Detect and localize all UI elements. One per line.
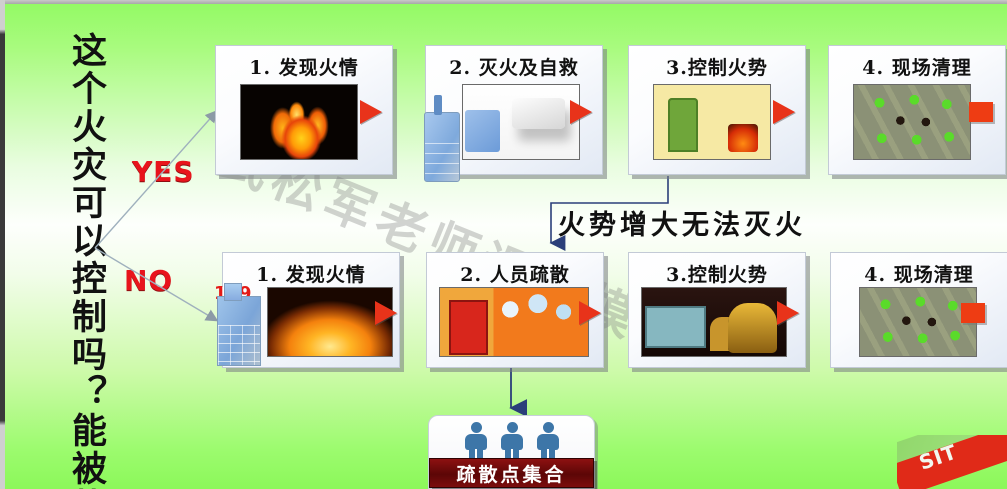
- card-title: 4. 现场清理: [829, 53, 1005, 80]
- stop-square-icon: [961, 303, 985, 323]
- card-no-3[interactable]: 3.控制火势: [628, 252, 806, 368]
- next-arrow-icon: [360, 100, 382, 124]
- fire-image: [241, 85, 357, 159]
- card-title: 3.控制火势: [629, 53, 805, 80]
- card-yes-1[interactable]: 1. 发现火情: [215, 45, 393, 175]
- next-arrow-icon: [773, 100, 795, 124]
- card-thumbnail: [240, 84, 358, 160]
- cleanup-image: [854, 85, 970, 159]
- card-thumbnail: [439, 287, 589, 357]
- building-icon: [217, 296, 261, 366]
- branch-label-no: NO: [124, 264, 173, 297]
- cleanup-image: [860, 288, 976, 356]
- evacuation-image: [440, 288, 588, 356]
- firefighter-image: [642, 288, 786, 356]
- three-people-icon: [463, 422, 563, 462]
- next-arrow-icon: [579, 301, 601, 325]
- slide-left-edge: [0, 0, 5, 489]
- card-title: 3.控制火势: [629, 260, 805, 287]
- escalation-label: 火势增大无法灭火: [558, 203, 806, 242]
- card-yes-3[interactable]: 3.控制火势: [628, 45, 806, 175]
- walkie-talkie-icon: [424, 112, 460, 182]
- card-no-4[interactable]: 4. 现场清理: [830, 252, 1007, 368]
- card-title: 2. 灭火及自救: [426, 53, 602, 80]
- slide-top-edge: [0, 0, 1007, 4]
- slide-canvas: 这个火灾可以控制吗？能被扑灭吗？ YES NO 武松军老师课程模板 1. 发现火…: [0, 0, 1007, 489]
- assembly-point-box[interactable]: 疏散点集合: [428, 415, 595, 489]
- card-thumbnail: [641, 287, 787, 357]
- extinguish-action-image: [654, 85, 770, 159]
- card-title: 2. 人员疏散: [427, 260, 603, 287]
- card-thumbnail: [653, 84, 771, 160]
- extinguisher-image: [463, 85, 579, 159]
- card-thumbnail: [462, 84, 580, 160]
- next-arrow-icon: [375, 301, 397, 325]
- card-no-2[interactable]: 2. 人员疏散: [426, 252, 604, 368]
- fire-image: [268, 288, 392, 356]
- stop-square-icon: [969, 102, 993, 122]
- card-thumbnail: [859, 287, 977, 357]
- card-title: 4. 现场清理: [831, 260, 1007, 287]
- next-arrow-icon: [570, 100, 592, 124]
- card-yes-4[interactable]: 4. 现场清理: [828, 45, 1006, 175]
- card-thumbnail: [853, 84, 971, 160]
- next-arrow-icon: [777, 301, 799, 325]
- assembly-point-label: 疏散点集合: [429, 458, 594, 488]
- card-title: 1. 发现火情: [216, 53, 392, 80]
- branch-label-yes: YES: [132, 155, 195, 188]
- page-title: 这个火灾可以控制吗？能被扑灭吗？: [48, 32, 104, 480]
